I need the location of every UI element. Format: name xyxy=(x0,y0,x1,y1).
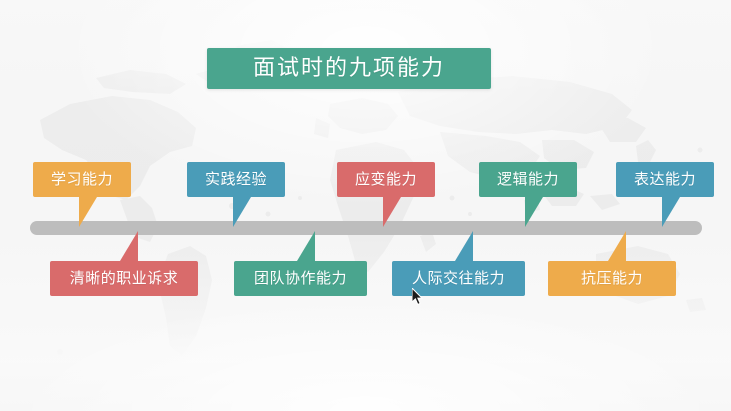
callout-top-4[interactable]: 表达能力 xyxy=(616,162,714,197)
callout-top-1[interactable]: 实践经验 xyxy=(187,162,285,197)
callout-tail xyxy=(233,197,251,227)
callout-top-2[interactable]: 应变能力 xyxy=(337,162,435,197)
callout-label: 表达能力 xyxy=(634,172,696,187)
callout-label: 逻辑能力 xyxy=(497,172,559,187)
slide-title-banner: 面试时的九项能力 xyxy=(207,48,491,89)
callout-top-3[interactable]: 逻辑能力 xyxy=(479,162,577,197)
callout-tail xyxy=(608,231,626,261)
callout-bottom-0[interactable]: 清晰的职业诉求 xyxy=(50,261,198,296)
callout-label: 抗压能力 xyxy=(581,271,643,286)
callout-tail xyxy=(120,231,138,261)
callout-label: 清晰的职业诉求 xyxy=(70,271,179,286)
callout-top-0[interactable]: 学习能力 xyxy=(33,162,131,197)
callout-label: 实践经验 xyxy=(205,172,267,187)
callout-tail xyxy=(662,197,680,227)
callout-tail xyxy=(455,231,473,261)
page-title: 面试时的九项能力 xyxy=(253,58,445,80)
callout-tail xyxy=(79,197,97,227)
callout-tail xyxy=(297,231,315,261)
callout-label: 应变能力 xyxy=(355,172,417,187)
callout-label: 团队协作能力 xyxy=(254,271,347,286)
callout-tail xyxy=(383,197,401,227)
callout-label: 人际交往能力 xyxy=(412,271,505,286)
callout-bottom-1[interactable]: 团队协作能力 xyxy=(234,261,367,296)
callout-label: 学习能力 xyxy=(51,172,113,187)
slide-canvas: 面试时的九项能力 学习能力实践经验应变能力逻辑能力表达能力 清晰的职业诉求团队协… xyxy=(0,0,731,411)
callout-bottom-3[interactable]: 抗压能力 xyxy=(548,261,676,296)
callout-tail xyxy=(525,197,543,227)
callout-bottom-2[interactable]: 人际交往能力 xyxy=(392,261,525,296)
